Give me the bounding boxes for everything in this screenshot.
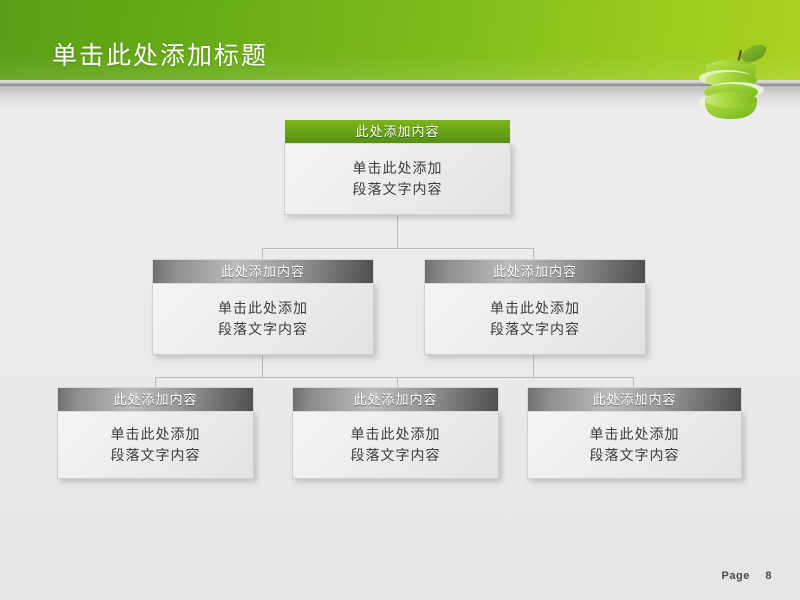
node-body-line-1: 单击此处添加 bbox=[111, 424, 201, 445]
diagram-node-n3a[interactable]: 此处添加内容 单击此处添加 段落文字内容 bbox=[57, 387, 254, 479]
node-header-n3b[interactable]: 此处添加内容 bbox=[292, 387, 499, 411]
node-body-n3b[interactable]: 单击此处添加 段落文字内容 bbox=[292, 411, 499, 479]
connector-root-stem bbox=[397, 214, 398, 248]
node-body-line-2: 段落文字内容 bbox=[490, 319, 580, 340]
node-body-n3c[interactable]: 单击此处添加 段落文字内容 bbox=[527, 411, 742, 479]
page-title[interactable]: 单击此处添加标题 bbox=[52, 36, 268, 72]
node-body-n2a[interactable]: 单击此处添加 段落文字内容 bbox=[152, 283, 374, 355]
node-header-n3c[interactable]: 此处添加内容 bbox=[527, 387, 742, 411]
page-footer: Page 8 bbox=[722, 570, 772, 582]
page-label: Page bbox=[722, 570, 750, 582]
node-body-line-2: 段落文字内容 bbox=[351, 445, 441, 466]
node-body-line-2: 段落文字内容 bbox=[590, 445, 680, 466]
node-body-line-1: 单击此处添加 bbox=[353, 158, 443, 179]
connector-n2a-stem bbox=[262, 355, 263, 377]
connector-level2-bus bbox=[262, 248, 533, 249]
diagram-node-n3b[interactable]: 此处添加内容 单击此处添加 段落文字内容 bbox=[292, 387, 499, 479]
diagram-node-root[interactable]: 此处添加内容 单击此处添加 段落文字内容 bbox=[284, 119, 511, 215]
node-body-line-2: 段落文字内容 bbox=[353, 179, 443, 200]
connector-level3-bus bbox=[155, 377, 633, 378]
node-header-n2b[interactable]: 此处添加内容 bbox=[424, 259, 646, 283]
header-shelf-shadow bbox=[0, 86, 800, 116]
node-header-n2a[interactable]: 此处添加内容 bbox=[152, 259, 374, 283]
node-body-line-2: 段落文字内容 bbox=[111, 445, 201, 466]
node-header-root[interactable]: 此处添加内容 bbox=[284, 119, 511, 143]
page-number: 8 bbox=[765, 570, 772, 582]
node-body-root[interactable]: 单击此处添加 段落文字内容 bbox=[284, 143, 511, 215]
node-body-line-1: 单击此处添加 bbox=[351, 424, 441, 445]
diagram-node-n3c[interactable]: 此处添加内容 单击此处添加 段落文字内容 bbox=[527, 387, 742, 479]
slide-canvas: 单击此处添加标题 bbox=[0, 0, 800, 600]
node-body-line-1: 单击此处添加 bbox=[590, 424, 680, 445]
node-body-n2b[interactable]: 单击此处添加 段落文字内容 bbox=[424, 283, 646, 355]
node-body-line-2: 段落文字内容 bbox=[218, 319, 308, 340]
connector-n2b-stem bbox=[533, 355, 534, 377]
node-body-n3a[interactable]: 单击此处添加 段落文字内容 bbox=[57, 411, 254, 479]
apple-icon bbox=[694, 34, 768, 120]
diagram-node-n2a[interactable]: 此处添加内容 单击此处添加 段落文字内容 bbox=[152, 259, 374, 355]
diagram-node-n2b[interactable]: 此处添加内容 单击此处添加 段落文字内容 bbox=[424, 259, 646, 355]
node-header-n3a[interactable]: 此处添加内容 bbox=[57, 387, 254, 411]
node-body-line-1: 单击此处添加 bbox=[218, 298, 308, 319]
node-body-line-1: 单击此处添加 bbox=[490, 298, 580, 319]
